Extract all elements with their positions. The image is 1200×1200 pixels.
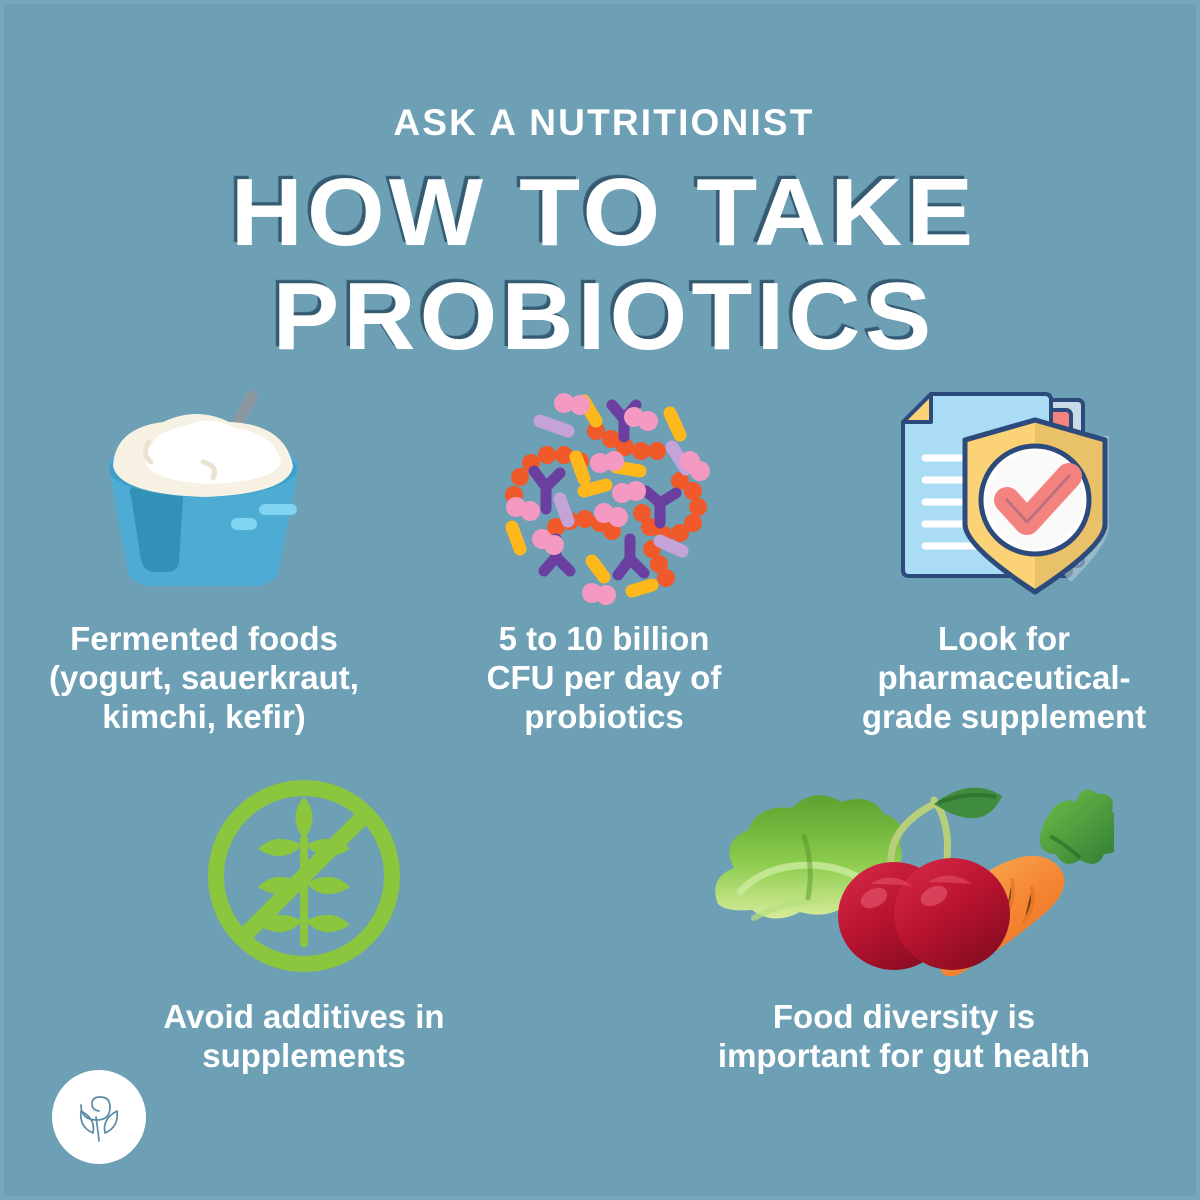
eyebrow-heading: ASK A NUTRITIONIST bbox=[4, 102, 1200, 144]
tips-row-bottom: Avoid additives in supplements bbox=[4, 776, 1200, 1076]
page-title-line-2: PROBIOTICS bbox=[0, 268, 1200, 366]
tip-card-avoid-additives: Avoid additives in supplements bbox=[4, 776, 604, 1076]
rose-logo[interactable] bbox=[52, 1070, 146, 1164]
page-title: HOW TO TAKE PROBIOTICS bbox=[4, 164, 1200, 366]
bacteria-cluster-icon bbox=[484, 376, 724, 606]
infographic-canvas: ASK A NUTRITIONIST HOW TO TAKE PROBIOTIC… bbox=[0, 0, 1200, 1200]
tips-row-top: Fermented foods (yogurt, sauerkraut, kim… bbox=[4, 376, 1200, 737]
tip-card-food-diversity: Food diversity is important for gut heal… bbox=[604, 776, 1200, 1076]
tip-caption: Fermented foods (yogurt, sauerkraut, kim… bbox=[24, 620, 384, 737]
tip-card-pharmaceutical-grade: Look for pharmaceutical- grade supplemen… bbox=[804, 376, 1200, 737]
tip-caption: Food diversity is important for gut heal… bbox=[634, 998, 1174, 1076]
yogurt-bowl-icon bbox=[79, 376, 329, 606]
tip-caption: Look for pharmaceutical- grade supplemen… bbox=[824, 620, 1184, 737]
certified-document-shield-icon bbox=[879, 376, 1129, 606]
tip-caption: Avoid additives in supplements bbox=[34, 998, 574, 1076]
vegetables-fruit-icon bbox=[694, 776, 1114, 976]
tip-caption: 5 to 10 billion CFU per day of probiotic… bbox=[424, 620, 784, 737]
tip-card-cfu-dosage: 5 to 10 billion CFU per day of probiotic… bbox=[404, 376, 804, 737]
no-wheat-icon bbox=[201, 776, 407, 976]
page-title-line-1: HOW TO TAKE bbox=[0, 164, 1200, 262]
tip-card-fermented-foods: Fermented foods (yogurt, sauerkraut, kim… bbox=[4, 376, 404, 737]
